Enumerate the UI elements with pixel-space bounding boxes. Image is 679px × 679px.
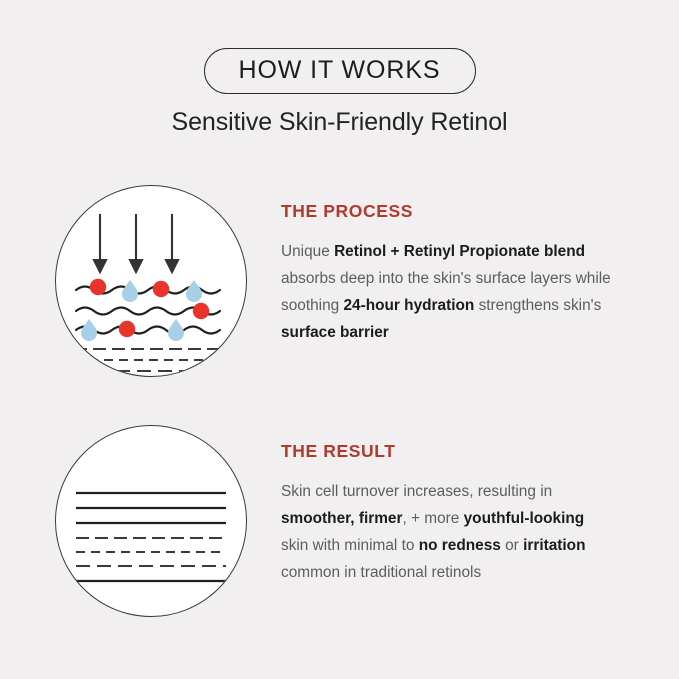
kicker-the-process: THE PROCESS [281,203,611,221]
header-badge-container: HOW IT WORKS [0,48,679,94]
how-it-works-badge: HOW IT WORKS [204,48,476,94]
process-body-text: Unique Retinol + Retinyl Propionate blen… [281,238,611,346]
section-process: THE PROCESS Unique Retinol + Retinyl Pro… [0,180,679,390]
penetration-arrows-icon [94,214,178,272]
kicker-the-result: THE RESULT [281,443,611,461]
section-result: THE RESULT Skin cell turnover increases,… [0,420,679,630]
process-copy-block: THE PROCESS Unique Retinol + Retinyl Pro… [281,203,611,346]
deep-layer-dashed-lines-icon [76,538,226,566]
smooth-surface-lines-icon [76,493,226,523]
absorption-diagram-svg [56,186,246,376]
result-body-text: Skin cell turnover increases, resulting … [281,478,611,586]
result-copy-block: THE RESULT Skin cell turnover increases,… [281,443,611,586]
infographic-page: HOW IT WORKS Sensitive Skin-Friendly Ret… [0,0,679,679]
skin-absorption-illustration [55,185,247,377]
result-diagram-svg [56,426,246,616]
deep-skin-layer-lines-icon [74,349,228,371]
smooth-skin-illustration [55,425,247,617]
page-subtitle: Sensitive Skin-Friendly Retinol [0,108,679,137]
